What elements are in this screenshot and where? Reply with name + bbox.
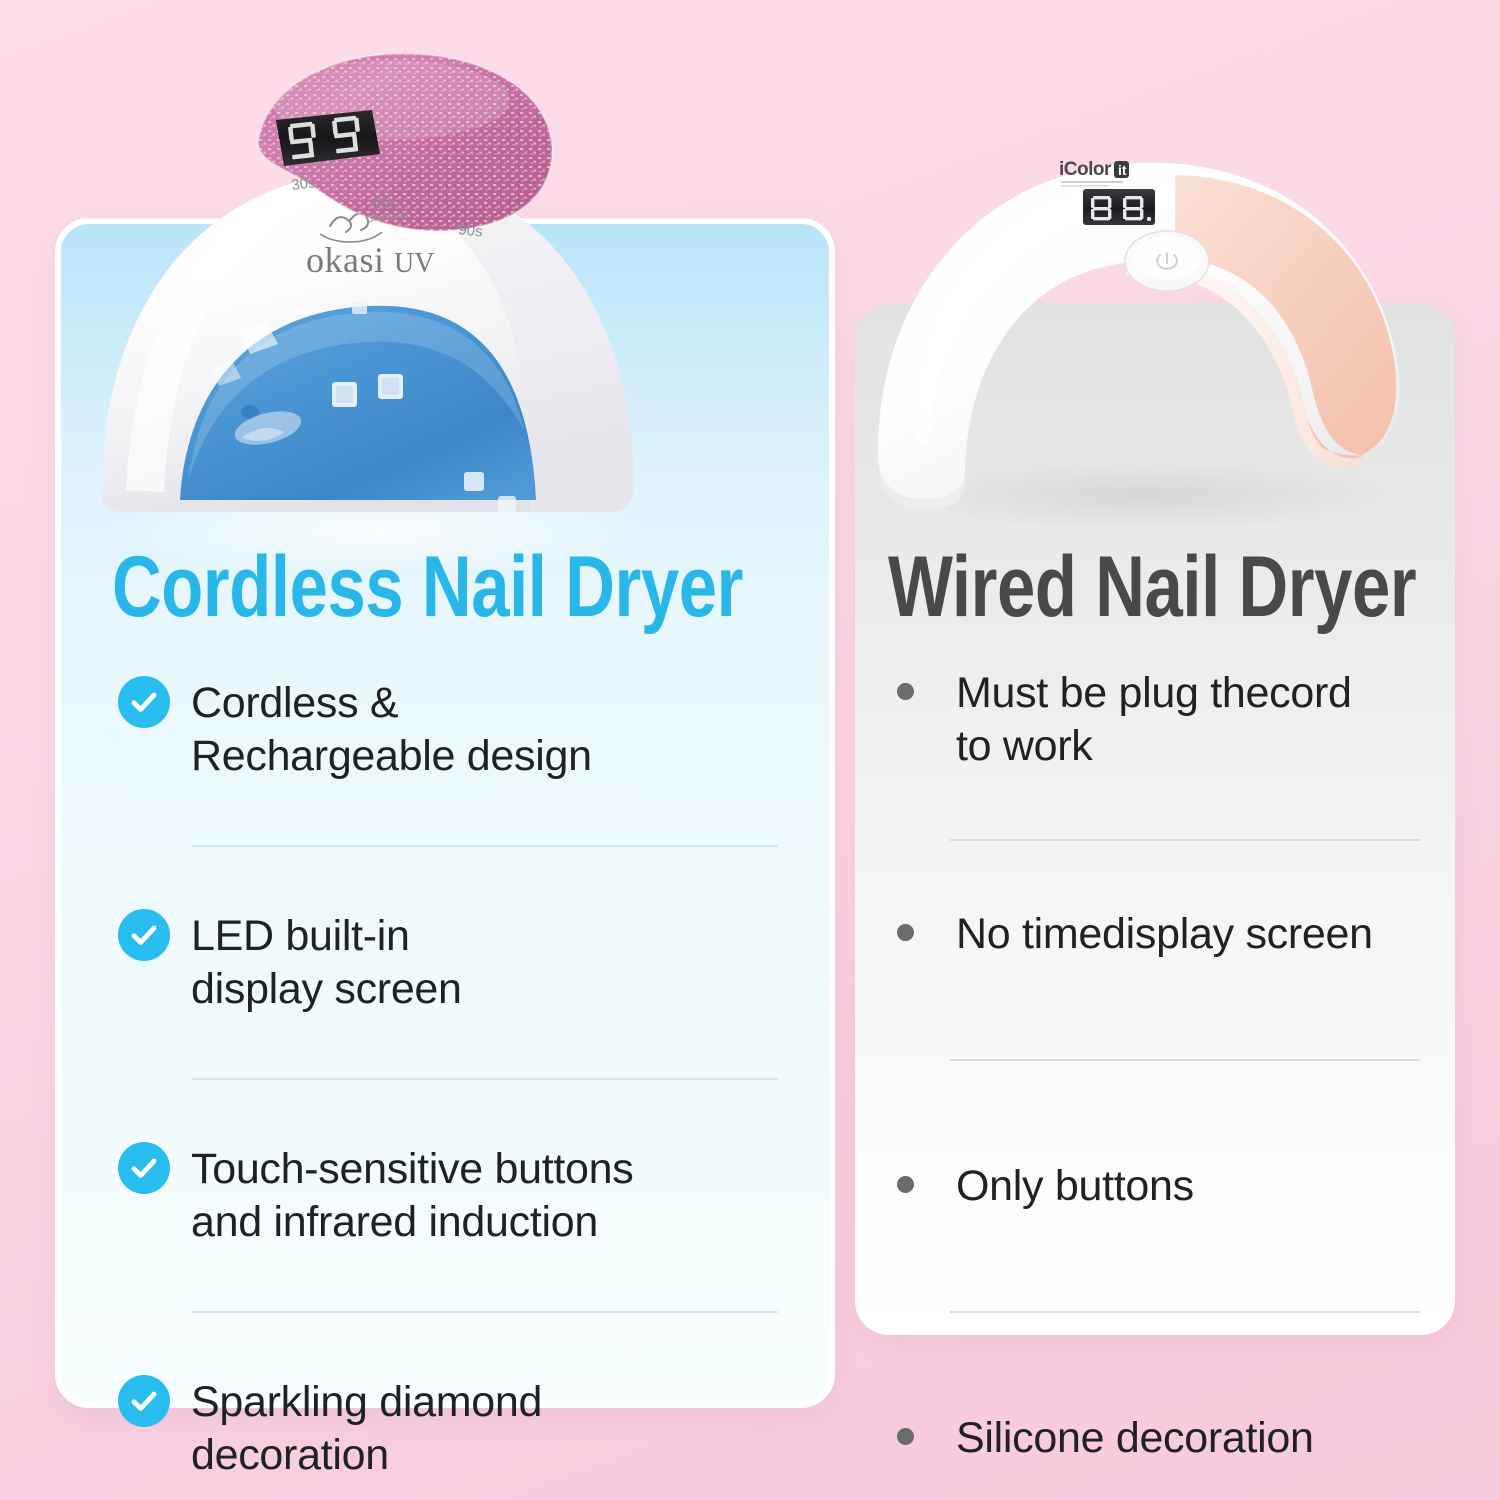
svg-text:iColor: iColor: [1059, 159, 1112, 180]
svg-text:60s: 60s: [371, 194, 396, 212]
spacer: [880, 841, 1420, 907]
check-icon: [118, 676, 170, 728]
check-icon: [118, 1142, 170, 1194]
spacer: [118, 847, 778, 909]
dot-bullet-icon: [880, 666, 930, 716]
dot-bullet-icon: [880, 1411, 930, 1461]
feature-item-cordless-4: Sparkling diamond decoration: [118, 1375, 778, 1482]
feature-label: Only buttons: [956, 1159, 1194, 1213]
feature-label: Sparkling diamond decoration: [191, 1375, 542, 1482]
spacer: [118, 1313, 778, 1375]
feature-item-cordless-1: Cordless & Rechargeable design: [118, 676, 778, 783]
feature-label: Cordless & Rechargeable design: [191, 676, 592, 783]
svg-text:30s: 30s: [290, 174, 316, 194]
cordless-feature-list: Cordless & Rechargeable design LED built…: [118, 676, 778, 1482]
spacer: [880, 1061, 1420, 1159]
feature-label: Must be plug thecord to work: [956, 666, 1352, 773]
feature-label: Silicone decoration: [956, 1411, 1314, 1465]
spacer: [118, 1016, 778, 1078]
feature-item-wired-1: Must be plug thecord to work: [880, 666, 1420, 773]
wired-feature-list: Must be plug thecord to work No timedisp…: [880, 666, 1420, 1465]
spacer: [118, 1249, 778, 1311]
check-icon: [118, 1375, 170, 1427]
spacer: [118, 1080, 778, 1142]
spacer: [118, 783, 778, 845]
feature-item-wired-4: Silicone decoration: [880, 1411, 1420, 1465]
feature-label: LED built-in display screen: [191, 909, 462, 1016]
dot-bullet-icon: [880, 1159, 930, 1209]
check-icon: [118, 909, 170, 961]
spacer: [880, 773, 1420, 839]
feature-item-wired-3: Only buttons: [880, 1159, 1420, 1213]
comparison-infographic: okasi UV: [0, 0, 1500, 1500]
dot-bullet-icon: [880, 907, 930, 957]
feature-item-wired-2: No timedisplay screen: [880, 907, 1420, 961]
spacer: [880, 1313, 1420, 1411]
spacer: [880, 961, 1420, 1059]
wired-card-title: Wired Nail Dryer: [888, 544, 1416, 630]
cordless-card-title: Cordless Nail Dryer: [112, 544, 743, 630]
svg-text:it: it: [1118, 162, 1127, 178]
feature-label: Touch-sensitive buttons and infrared ind…: [191, 1142, 633, 1249]
feature-item-cordless-2: LED built-in display screen: [118, 909, 778, 1016]
spacer: [880, 1213, 1420, 1311]
feature-item-cordless-3: Touch-sensitive buttons and infrared ind…: [118, 1142, 778, 1249]
feature-label: No timedisplay screen: [956, 907, 1373, 961]
